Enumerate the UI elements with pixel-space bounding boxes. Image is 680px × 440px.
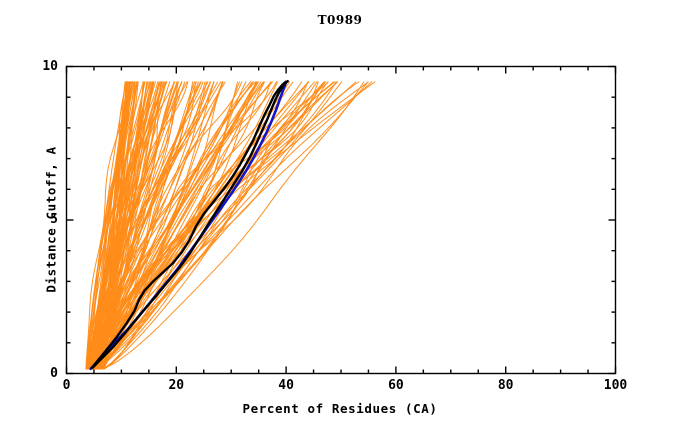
x-tick-label: 80 [476,378,536,393]
plot-frame [67,67,616,374]
y-tick-label: 0 [18,366,58,381]
x-tick-label: 40 [256,378,316,393]
axes-frame-group [67,67,616,374]
x-tick-label: 20 [146,378,206,393]
y-tick-label: 5 [18,212,58,227]
x-tick-label: 60 [366,378,426,393]
chart-container: T0989 Percent of Residues (CA) Distance … [0,0,680,440]
x-axis-label: Percent of Residues (CA) [0,401,680,416]
plot-canvas [0,0,680,440]
y-tick-label: 10 [18,59,58,74]
x-tick-label: 100 [586,378,646,393]
